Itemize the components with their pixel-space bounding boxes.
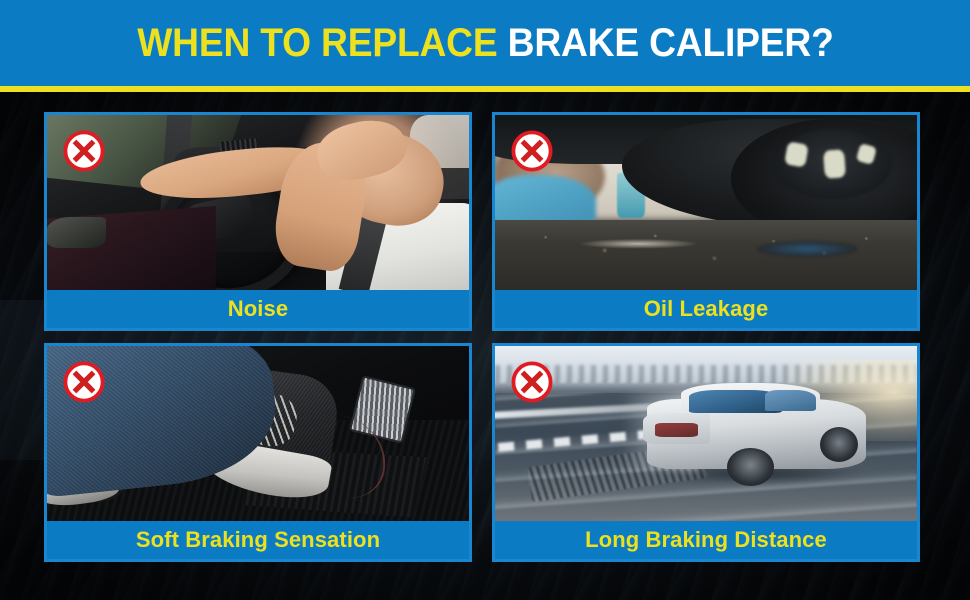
ground-gravel-texture: [495, 224, 917, 291]
card-oil-leakage-caption: Oil Leakage: [495, 290, 917, 328]
card-noise-photo: [47, 115, 469, 290]
infographic-page: WHEN TO REPLACE BRAKE CALIPER?: [0, 0, 970, 600]
no-entry-x-icon: [63, 361, 105, 403]
no-entry-x-icon: [63, 130, 105, 172]
card-noise[interactable]: Noise: [44, 112, 472, 331]
page-title-highlight: WHEN TO REPLACE: [137, 21, 507, 65]
card-soft-braking-sensation-caption: Soft Braking Sensation: [47, 521, 469, 559]
side-mirror-shape: [47, 217, 106, 249]
card-oil-leakage-photo: [495, 115, 917, 290]
header-bar: WHEN TO REPLACE BRAKE CALIPER?: [0, 0, 970, 86]
page-title-rest: BRAKE CALIPER?: [507, 21, 833, 65]
no-entry-x-icon: [511, 361, 553, 403]
card-long-braking-distance-photo: [495, 346, 917, 521]
card-long-braking-distance-caption: Long Braking Distance: [495, 521, 917, 559]
cards-grid: Noise: [44, 112, 920, 562]
rim-spoke-shape: [823, 149, 846, 178]
header-divider-rule: [0, 86, 970, 92]
card-oil-leakage[interactable]: Oil Leakage: [492, 112, 920, 331]
page-title: WHEN TO REPLACE BRAKE CALIPER?: [137, 21, 833, 66]
car-rear-wheel-shape: [727, 448, 773, 487]
card-soft-braking-sensation-photo: [47, 346, 469, 521]
no-entry-x-icon: [511, 130, 553, 172]
card-soft-braking-sensation[interactable]: Soft Braking Sensation: [44, 343, 472, 562]
car-taillight-shape: [655, 423, 697, 437]
card-noise-caption: Noise: [47, 290, 469, 328]
car-side-window-shape: [765, 390, 816, 411]
card-long-braking-distance[interactable]: Long Braking Distance: [492, 343, 920, 562]
oil-slick-shape: [757, 241, 858, 257]
car-front-wheel-shape: [820, 427, 858, 462]
